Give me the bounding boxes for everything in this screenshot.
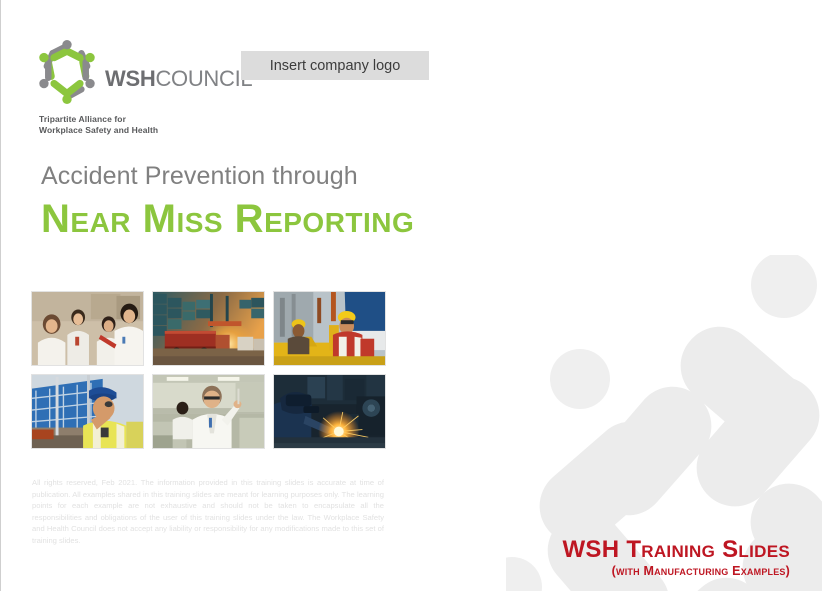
wordmark-council: COUNCIL [155,66,252,91]
wordmark-wsh: WSH [105,66,155,91]
branding-title: WSH Training Slides [562,537,790,563]
disclaimer-text: All rights reserved, Feb 2021. The infor… [32,477,384,546]
photo-laboratory-scientists [152,374,265,449]
insert-company-logo-placeholder[interactable]: Insert company logo [241,51,429,80]
title-slide: WSHCOUNCIL Tripartite Alliance for Workp… [0,0,822,591]
photo-shipyard-workers [273,291,386,366]
logo-tagline-line2: Workplace Safety and Health [39,125,231,136]
slide-title-group: Accident Prevention through Near Miss Re… [41,162,414,242]
wsh-hexagon-logo-icon [31,36,103,108]
photo-grid [31,291,386,449]
wsh-training-slides-branding: WSH Training Slides (with Manufacturing … [562,537,790,579]
photo-construction-site-supervisor [31,374,144,449]
logo-tagline-line1: Tripartite Alliance for [39,114,231,125]
branding-subtitle: (with Manufacturing Examples) [562,564,790,579]
photo-welder-sparks [273,374,386,449]
photo-healthcare-staff-discussion [31,291,144,366]
wsh-council-wordmark: WSHCOUNCIL [105,54,252,90]
slide-subtitle: Accident Prevention through [41,162,414,192]
logo-tagline: Tripartite Alliance for Workplace Safety… [39,114,231,137]
photo-shipping-container-yard [152,291,265,366]
slide-main-title: Near Miss Reporting [41,196,414,242]
wsh-council-logo: WSHCOUNCIL Tripartite Alliance for Workp… [31,36,231,137]
